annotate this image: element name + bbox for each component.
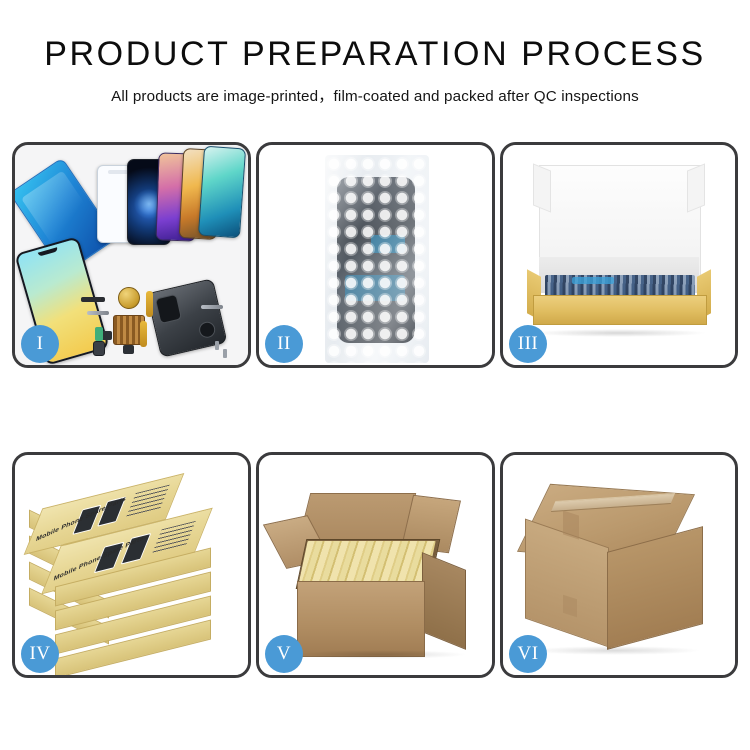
mailer-box-shadow	[531, 329, 707, 337]
bubble-wrap-gloss	[325, 155, 429, 363]
step-badge-2: II	[265, 325, 303, 363]
step-badge-5: V	[265, 635, 303, 673]
part-antenna-wire	[87, 311, 109, 315]
step-badge-4: IV	[21, 635, 59, 673]
part-shield-plate	[123, 345, 134, 354]
retail-box-spec-lines-1	[126, 485, 170, 518]
process-step-grid: I II III	[12, 142, 738, 678]
part-tool-tweezer	[201, 305, 223, 309]
step-badge-1: I	[21, 325, 59, 363]
mailer-box-front-wall	[533, 295, 707, 325]
page-subtitle: All products are image-printed，film-coat…	[0, 73, 750, 106]
part-camera-module	[93, 341, 105, 356]
carton-front-wall	[297, 581, 425, 657]
carton-packed-retail-boxes	[298, 541, 435, 585]
process-step-3[interactable]: III	[500, 142, 738, 368]
part-battery-cell	[95, 327, 103, 341]
part-flex-cable-a	[146, 291, 153, 317]
process-step-4[interactable]: Mobile Phone Spare Parts Mobile Phone Sp…	[12, 452, 251, 678]
mailer-box-lid-left-flap	[533, 163, 551, 212]
step-badge-3: III	[509, 325, 547, 363]
mailer-box-lid-right-flap	[687, 163, 705, 212]
process-step-2[interactable]: II	[256, 142, 495, 368]
page-header: PRODUCT PREPARATION PROCESS All products…	[0, 0, 750, 106]
sealed-carton-seam-top	[563, 510, 579, 539]
page-title: PRODUCT PREPARATION PROCESS	[0, 0, 750, 73]
process-step-1[interactable]: I	[12, 142, 251, 368]
step-badge-6: VI	[509, 635, 547, 673]
process-step-5[interactable]: V	[256, 452, 495, 678]
carton-right-wall	[422, 552, 466, 650]
process-step-6[interactable]: VI	[500, 452, 738, 678]
part-screw-b	[223, 349, 227, 358]
part-flex-cable-b	[140, 321, 147, 347]
sealed-carton-shadow	[529, 646, 701, 655]
carton-shadow	[295, 650, 467, 659]
phone-screen-teal	[198, 146, 246, 239]
part-screw-a	[215, 341, 219, 350]
retail-box-spec-lines-2	[152, 521, 196, 555]
part-vibration-motor	[118, 287, 140, 309]
packed-wrapped-items	[545, 275, 695, 297]
part-speaker-bar	[81, 297, 105, 302]
